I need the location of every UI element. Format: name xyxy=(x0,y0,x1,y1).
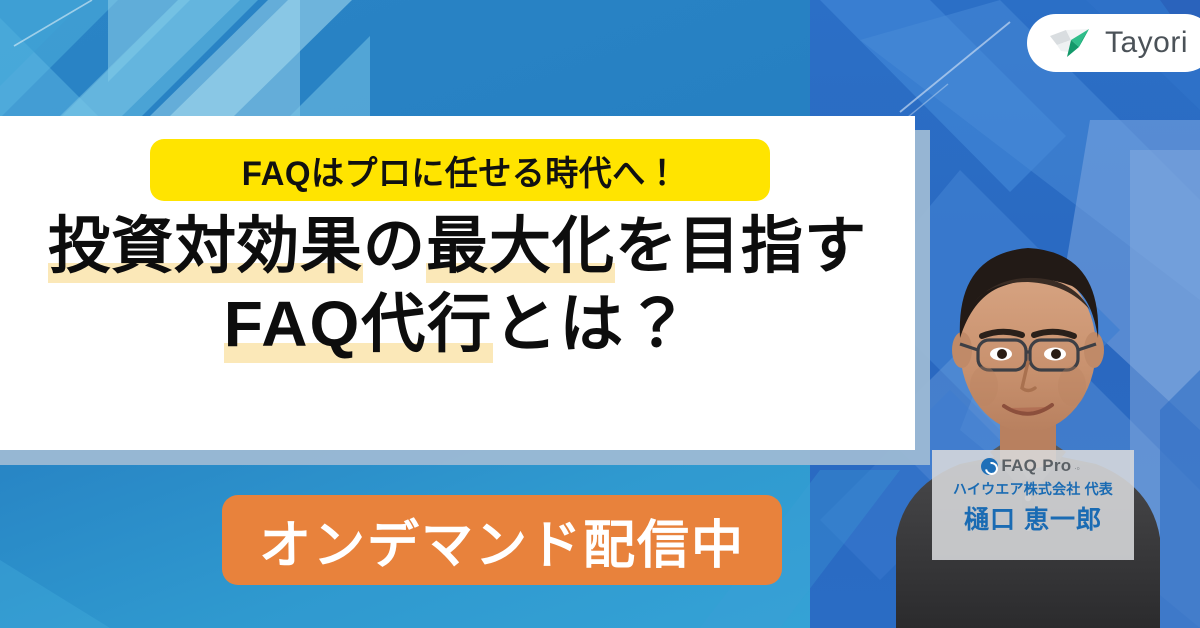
faq-pro-mark-icon xyxy=(981,458,998,475)
tayori-wordmark: Tayori xyxy=(1105,26,1188,60)
cta-label: オンデマンド配信中 xyxy=(259,503,745,578)
headline-highlight-2: 最大化 xyxy=(426,212,615,283)
headline-highlight-1: 投資対効果 xyxy=(48,212,363,283)
headline-line2-post: とは？ xyxy=(493,288,691,360)
tagline-pill: FAQはプロに任せる時代へ！ xyxy=(150,139,770,201)
faq-pro-trademark: .。 xyxy=(1074,461,1084,472)
webinar-banner: FAQはプロに任せる時代へ！ 投資対効果の最大化を目指す FAQ代行とは？ オン… xyxy=(0,0,1200,628)
headline-line1-mid: の xyxy=(363,212,426,281)
faq-pro-wordmark: FAQ Pro xyxy=(1001,456,1071,476)
faq-pro-logo: FAQ Pro .。 xyxy=(981,456,1084,476)
speaker-photo xyxy=(878,198,1178,628)
headline-line-2: FAQ代行とは？ xyxy=(0,289,915,363)
headline-line-1: 投資対効果の最大化を目指す xyxy=(0,212,915,283)
on-demand-cta-button[interactable]: オンデマンド配信中 xyxy=(222,495,782,585)
headline-line1-post: を目指す xyxy=(615,212,867,281)
paper-plane-icon xyxy=(1049,27,1093,59)
headline-highlight-3: FAQ代行 xyxy=(224,289,494,363)
speaker-company: ハイウエア株式会社 代表 xyxy=(953,479,1113,499)
tagline-text: FAQはプロに任せる時代へ！ xyxy=(241,146,678,195)
headline-block: 投資対効果の最大化を目指す FAQ代行とは？ xyxy=(0,212,915,363)
speaker-name: 樋口 恵一郎 xyxy=(964,500,1102,536)
tayori-logo-badge[interactable]: Tayori xyxy=(1027,14,1200,72)
decor-left-shapes xyxy=(0,0,370,118)
speaker-name-plate: FAQ Pro .。 ハイウエア株式会社 代表 樋口 恵一郎 xyxy=(932,450,1134,560)
